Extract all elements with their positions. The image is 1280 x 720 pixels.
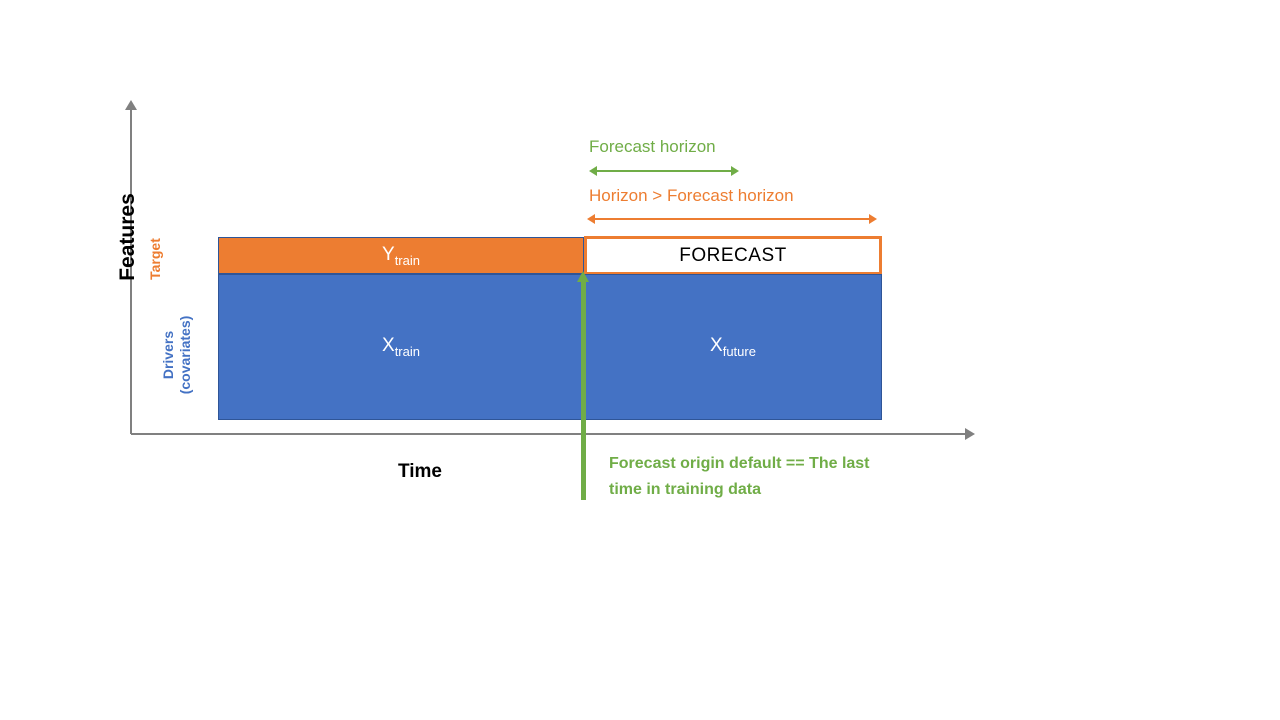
y-axis-title: Features [116, 167, 140, 307]
y-train-label: Ytrain [382, 244, 420, 268]
arrow-right-head-icon [869, 214, 877, 224]
y-axis-arrow-icon [125, 100, 137, 110]
forecast-horizon-label: Forecast horizon [589, 137, 716, 157]
arrow-right-head-icon [731, 166, 739, 176]
forecast-origin-line [581, 280, 586, 500]
y-train-block: Ytrain [218, 237, 584, 274]
forecast-horizon-arrow-icon [589, 165, 739, 177]
forecast-label: FORECAST [679, 245, 786, 267]
x-train-block: Xtrain [218, 274, 584, 420]
forecast-origin-arrow-icon [577, 271, 589, 282]
arrow-shaft [594, 218, 870, 220]
x-axis-title: Time [330, 461, 510, 483]
x-train-label: Xtrain [382, 335, 420, 359]
horizon-comparison-label: Horizon > Forecast horizon [589, 186, 794, 206]
x-axis-line [131, 433, 967, 435]
x-future-block: Xfuture [584, 274, 882, 420]
arrow-shaft [596, 170, 732, 172]
target-category-label: Target [147, 224, 163, 294]
x-future-label: Xfuture [710, 335, 756, 359]
horizon-arrow-icon [587, 213, 877, 225]
forecast-block: FORECAST [584, 236, 882, 275]
diagram-canvas: Features Time Target Drivers (covariates… [0, 0, 1280, 720]
forecast-origin-caption: Forecast origin default == The last time… [609, 451, 899, 503]
x-axis-arrow-icon [965, 428, 975, 440]
drivers-category-label: Drivers (covariates) [160, 290, 194, 420]
